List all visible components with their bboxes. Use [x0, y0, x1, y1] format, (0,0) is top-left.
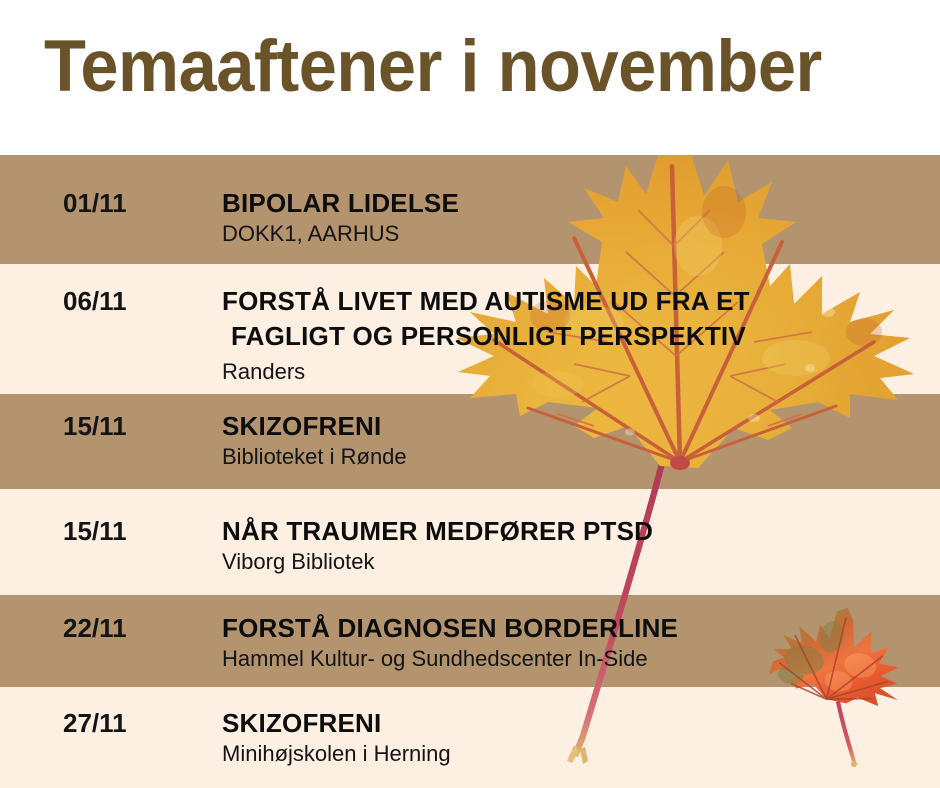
schedule-row: 27/11 SKIZOFRENI Minihøjskolen i Herning	[0, 687, 940, 788]
schedule-row: 15/11 SKIZOFRENI Biblioteket i Rønde	[0, 394, 940, 489]
schedule-row: 01/11 BIPOLAR LIDELSE DOKK1, AARHUS	[0, 155, 940, 264]
row-title-line1: FORSTÅ LIVET MED AUTISME UD FRA ET	[222, 284, 750, 319]
row-date: 15/11	[63, 516, 127, 547]
row-date: 15/11	[63, 411, 127, 442]
row-date: 06/11	[63, 286, 127, 317]
poster-header: Temaaftener i november	[0, 0, 940, 155]
row-title: SKIZOFRENI	[222, 706, 381, 741]
row-title-line2: FAGLIGT OG PERSONLIGT PERSPEKTIV	[231, 319, 746, 354]
row-date: 27/11	[63, 708, 127, 739]
row-title: NÅR TRAUMER MEDFØRER PTSD	[222, 514, 653, 549]
row-title: FORSTÅ DIAGNOSEN BORDERLINE	[222, 611, 678, 646]
row-venue: Hammel Kultur- og Sundhedscenter In-Side	[222, 646, 648, 672]
schedule-row: 22/11 FORSTÅ DIAGNOSEN BORDERLINE Hammel…	[0, 595, 940, 687]
row-venue: Randers	[222, 359, 305, 385]
row-title: SKIZOFRENI	[222, 409, 381, 444]
schedule-row: 06/11 FORSTÅ LIVET MED AUTISME UD FRA ET…	[0, 264, 940, 394]
row-venue: Minihøjskolen i Herning	[222, 741, 451, 767]
row-venue: Biblioteket i Rønde	[222, 444, 407, 470]
page-title: Temaaftener i november	[44, 28, 822, 106]
row-title: BIPOLAR LIDELSE	[222, 186, 459, 221]
schedule-row: 15/11 NÅR TRAUMER MEDFØRER PTSD Viborg B…	[0, 489, 940, 595]
row-venue: DOKK1, AARHUS	[222, 221, 399, 247]
poster-canvas: Temaaftener i november 01/11 BIPOLAR LID…	[0, 0, 940, 788]
row-venue: Viborg Bibliotek	[222, 549, 374, 575]
row-date: 22/11	[63, 613, 127, 644]
row-date: 01/11	[63, 188, 127, 219]
